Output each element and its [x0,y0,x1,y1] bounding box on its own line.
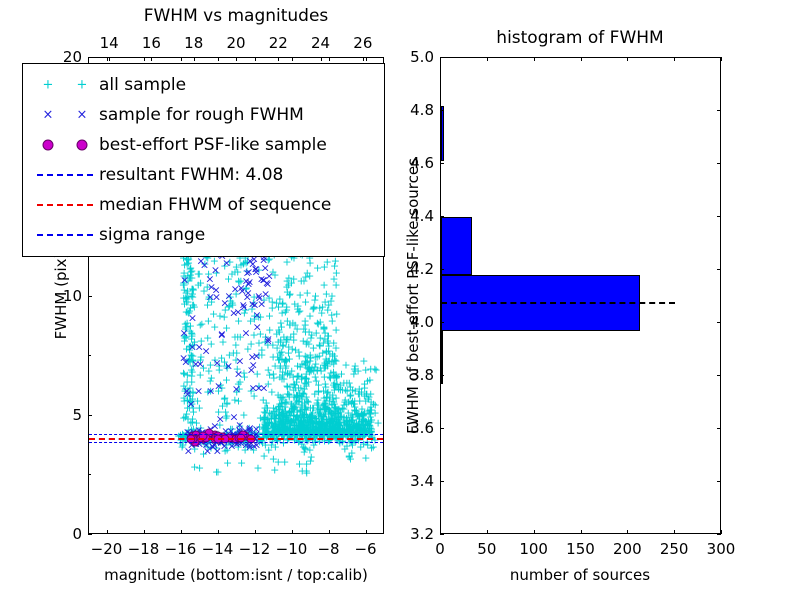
scatter-point-all: + [183,403,192,414]
scatter-point-all: + [260,412,269,423]
scatter-point-all: + [332,372,341,383]
scatter-point-all: + [217,382,226,393]
scatter-point-all: + [331,356,340,367]
scatter-point-rough: × [221,426,230,437]
scatter-point-all: + [308,422,317,433]
scatter-point-rough: × [242,275,251,286]
scatter-point-all: + [335,416,344,427]
scatter-point-all: + [331,369,340,380]
scatter-point-all: + [215,360,224,371]
scatter-point-all: + [289,413,298,424]
scatter-point-all: + [327,417,336,428]
scatter-point-all: + [331,410,340,421]
scatter-point-all: + [254,337,263,348]
scatter-point-all: + [288,403,297,414]
scatter-point-all: + [277,354,286,365]
scatter-point-all: + [319,426,328,437]
scatter-top-xtick [151,57,152,61]
scatter-point-all: + [282,411,291,422]
scatter-point-all: + [269,410,278,421]
scatter-point-all: + [328,390,337,401]
scatter-point-all: + [304,377,313,388]
scatter-point-all: + [206,360,215,371]
scatter-point-all: + [269,426,278,437]
scatter-point-all: + [233,364,242,375]
scatter-point-all: + [239,259,248,270]
scatter-point-all: + [282,356,291,367]
scatter-point-all: + [346,421,355,432]
scatter-point-all: + [344,407,353,418]
scatter-point-all: + [218,336,227,347]
scatter-point-all: + [347,415,356,426]
scatter-point-all: + [366,416,375,427]
scatter-point-all: + [197,336,206,347]
scatter-point-all: + [187,350,196,361]
scatter-point-all: + [322,427,331,438]
scatter-point-all: + [179,413,188,424]
scatter-point-all: + [294,383,303,394]
scatter-point-rough: × [224,360,233,371]
scatter-point-all: + [181,322,190,333]
scatter-point-all: + [317,365,326,376]
scatter-point-all: + [354,422,363,433]
scatter-point-all: + [275,355,284,366]
histogram-ytick-right [717,110,721,111]
scatter-point-all: + [325,348,334,359]
scatter-point-all: + [285,288,294,299]
scatter-point-all: + [220,393,229,404]
scatter-point-all: + [282,380,291,391]
scatter-point-all: + [185,402,194,413]
histogram-ytick [440,428,444,429]
scatter-point-all: + [302,380,311,391]
scatter-point-all: + [293,300,302,311]
histogram-xtick-label: 50 [477,540,496,558]
scatter-point-all: + [352,421,361,432]
scatter-point-all: + [332,419,341,430]
scatter-point-all: + [285,290,294,301]
scatter-point-all: + [294,397,303,408]
scatter-point-all: + [333,408,342,419]
scatter-point-all: + [276,427,285,438]
scatter-point-all: + [334,404,343,415]
scatter-point-all: + [274,415,283,426]
scatter-point-rough: × [217,329,226,340]
scatter-point-all: + [336,413,345,424]
figure-canvas: ++++++++++++++++++++++++++++++++++++++++… [0,0,800,600]
scatter-point-rough: × [249,359,258,370]
scatter-point-all: + [313,364,322,375]
scatter-point-all: + [284,279,293,290]
scatter-point-all: + [223,458,232,469]
scatter-point-all: + [308,411,317,422]
scatter-point-rough: × [179,328,188,339]
plus-icon: + [43,79,54,92]
scatter-point-all: + [234,315,243,326]
scatter-top-xtick-label: 20 [226,34,245,52]
scatter-point-all: + [306,412,315,423]
scatter-point-all: + [285,320,294,331]
scatter-point-all: + [359,427,368,438]
scatter-point-all: + [234,442,243,453]
scatter-point-all: + [231,340,240,351]
scatter-point-all: + [329,338,338,349]
scatter-point-all: + [199,286,208,297]
scatter-point-all: + [274,426,283,437]
scatter-point-all: + [182,376,191,387]
scatter-point-all: + [263,426,272,437]
scatter-point-all: + [351,385,360,396]
scatter-point-all: + [183,292,192,303]
scatter-point-rough: × [241,425,250,436]
scatter-point-all: + [180,336,189,347]
scatter-point-all: + [224,302,233,313]
scatter-point-rough: × [251,263,260,274]
scatter-point-all: + [301,327,310,338]
scatter-point-all: + [350,417,359,428]
scatter-point-all: + [342,412,351,423]
legend-label: best-effort PSF-like sample [99,135,327,155]
legend-marker: ×× [31,100,99,130]
scatter-point-all: + [300,410,309,421]
scatter-point-all: + [331,401,340,412]
scatter-point-all: + [183,385,192,396]
scatter-point-all: + [332,308,341,319]
scatter-point-all: + [187,266,196,277]
scatter-point-all: + [289,335,298,346]
scatter-point-all: + [351,421,360,432]
scatter-point-all: + [207,296,216,307]
scatter-point-all: + [325,427,334,438]
scatter-point-all: + [306,352,315,363]
scatter-xtick [181,530,182,534]
scatter-point-all: + [339,412,348,423]
scatter-point-all: + [277,398,286,409]
scatter-point-all: + [301,427,310,438]
scatter-point-all: + [334,420,343,431]
histogram-xtick-label: 100 [519,540,548,558]
scatter-point-all: + [182,409,191,420]
scatter-point-all: + [185,355,194,366]
scatter-point-all: + [294,415,303,426]
scatter-point-all: + [291,401,300,412]
scatter-point-rough: × [245,423,254,434]
histogram-ytick-right [717,534,721,535]
scatter-point-all: + [334,405,343,416]
scatter-point-all: + [288,317,297,328]
scatter-point-all: + [243,344,252,355]
scatter-point-all: + [357,403,366,414]
scatter-point-all: + [339,426,348,437]
scatter-point-all: + [335,426,344,437]
scatter-point-all: + [272,297,281,308]
scatter-point-all: + [259,394,268,405]
scatter-point-all: + [185,390,194,401]
scatter-point-all: + [270,269,279,280]
scatter-point-rough: × [213,445,222,456]
scatter-point-rough: × [259,274,268,285]
scatter-point-all: + [247,385,256,396]
scatter-xtick-label: −6 [354,540,376,558]
scatter-point-all: + [262,421,271,432]
scatter-point-all: + [249,298,258,309]
scatter-point-all: + [180,396,189,407]
scatter-point-all: + [284,272,293,283]
scatter-point-all: + [265,293,274,304]
scatter-point-all: + [315,403,324,414]
scatter-point-rough: × [211,265,220,276]
scatter-point-all: + [323,361,332,372]
scatter-point-all: + [276,416,285,427]
scatter-point-all: + [341,423,350,434]
scatter-point-all: + [303,415,312,426]
scatter-point-rough: × [217,329,226,340]
scatter-point-all: + [332,426,341,437]
scatter-point-all: + [330,422,339,433]
scatter-point-all: + [301,378,310,389]
scatter-point-all: + [264,364,273,375]
scatter-point-all: + [291,414,300,425]
scatter-point-all: + [222,361,231,372]
scatter-point-all: + [349,419,358,430]
scatter-point-all: + [274,355,283,366]
scatter-point-all: + [323,257,332,268]
scatter-point-all: + [348,396,357,407]
scatter-point-all: + [186,391,195,402]
scatter-point-all: + [328,412,337,423]
scatter-point-all: + [280,422,289,433]
histogram-xtick-top [581,57,582,61]
scatter-point-all: + [354,407,363,418]
scatter-point-all: + [254,311,263,322]
scatter-point-all: + [350,399,359,410]
scatter-point-all: + [231,354,240,365]
scatter-point-all: + [189,402,198,413]
scatter-point-all: + [316,426,325,437]
scatter-point-all: + [305,417,314,428]
scatter-point-all: + [289,417,298,428]
scatter-point-all: + [292,411,301,422]
scatter-point-rough: × [189,426,198,437]
scatter-point-all: + [297,275,306,286]
scatter-point-all: + [346,381,355,392]
scatter-point-all: + [212,443,221,454]
scatter-point-all: + [295,413,304,424]
scatter-point-all: + [232,386,241,397]
scatter-point-all: + [279,339,288,350]
scatter-point-all: + [241,304,250,315]
scatter-point-all: + [283,421,292,432]
scatter-xtick-label: −14 [202,540,234,558]
scatter-point-all: + [276,400,285,411]
scatter-point-rough: × [245,277,254,288]
scatter-point-rough: × [182,386,191,397]
scatter-point-all: + [306,350,315,361]
scatter-point-all: + [287,405,296,416]
scatter-point-rough: × [248,352,257,363]
scatter-point-all: + [367,442,376,453]
scatter-point-all: + [300,419,309,430]
scatter-point-all: + [311,291,320,302]
scatter-point-all: + [301,271,310,282]
scatter-point-rough: × [188,341,197,352]
scatter-point-all: + [290,402,299,413]
scatter-point-all: + [280,402,289,413]
scatter-point-rough: × [212,285,221,296]
scatter-point-all: + [259,295,268,306]
scatter-point-all: + [332,422,341,433]
scatter-point-all: + [274,401,283,412]
scatter-point-all: + [292,427,301,438]
scatter-point-rough: × [203,445,212,456]
scatter-point-all: + [312,376,321,387]
scatter-point-all: + [277,395,286,406]
scatter-point-all: + [183,394,192,405]
scatter-point-all: + [319,400,328,411]
scatter-point-all: + [362,426,371,437]
scatter-point-all: + [188,284,197,295]
scatter-point-rough: × [250,300,259,311]
scatter-point-all: + [297,416,306,427]
scatter-point-all: + [355,414,364,425]
scatter-point-all: + [329,367,338,378]
scatter-point-all: + [289,409,298,420]
scatter-point-all: + [188,299,197,310]
histogram-ytick-label: 3.4 [398,472,434,490]
scatter-point-all: + [323,336,332,347]
scatter-point-all: + [281,417,290,428]
legend-item: resultant FWHM: 4.08 [31,160,374,190]
scatter-point-all: + [294,417,303,428]
scatter-top-xtick-label: 18 [184,34,203,52]
scatter-xtick [292,530,293,534]
scatter-point-all: + [300,315,309,326]
scatter-point-all: + [289,385,298,396]
scatter-point-all: + [185,341,194,352]
histogram-ytick-label: 4.8 [398,101,434,119]
scatter-point-all: + [302,459,311,470]
scatter-xtick [218,530,219,534]
scatter-point-all: + [320,323,329,334]
legend-marker [31,190,99,220]
legend-label: sample for rough FWHM [99,105,304,125]
scatter-point-all: + [285,370,294,381]
scatter-point-all: + [285,319,294,330]
histogram-title: histogram of FWHM [496,28,663,48]
scatter-point-all: + [364,426,373,437]
scatter-point-all: + [297,394,306,405]
scatter-point-all: + [304,426,313,437]
scatter-point-all: + [303,267,312,278]
scatter-point-all: + [365,426,374,437]
scatter-point-all: + [311,422,320,433]
scatter-point-all: + [276,335,285,346]
scatter-point-all: + [315,426,324,437]
scatter-point-all: + [267,419,276,430]
scatter-point-all: + [239,258,248,269]
scatter-point-all: + [183,285,192,296]
scatter-point-all: + [323,305,332,316]
scatter-point-all: + [332,380,341,391]
scatter-point-all: + [284,341,293,352]
scatter-point-all: + [187,334,196,345]
scatter-point-all: + [265,369,274,380]
scatter-point-all: + [303,420,312,431]
scatter-point-all: + [323,426,332,437]
scatter-point-all: + [182,306,191,317]
scatter-point-all: + [307,427,316,438]
scatter-point-all: + [305,365,314,376]
scatter-point-all: + [276,337,285,348]
scatter-point-rough: × [191,359,200,370]
scatter-point-all: + [270,410,279,421]
scatter-point-all: + [182,293,191,304]
scatter-point-all: + [293,370,302,381]
scatter-point-all: + [279,409,288,420]
scatter-point-all: + [308,403,317,414]
histogram-ytick [440,110,444,111]
scatter-point-all: + [321,360,330,371]
scatter-point-all: + [267,414,276,425]
scatter-point-all: + [319,385,328,396]
scatter-point-all: + [242,265,251,276]
scatter-point-all: + [361,419,370,430]
scatter-point-all: + [323,402,332,413]
scatter-point-all: + [293,360,302,371]
scatter-point-all: + [296,382,305,393]
scatter-point-all: + [345,377,354,388]
scatter-point-all: + [293,371,302,382]
scatter-point-rough: × [231,283,240,294]
scatter-point-all: + [271,442,280,453]
scatter-point-all: + [295,427,304,438]
scatter-point-all: + [324,409,333,420]
scatter-point-all: + [309,302,318,313]
scatter-point-all: + [338,402,347,413]
scatter-point-all: + [312,421,321,432]
scatter-point-all: + [324,346,333,357]
legend-marker [31,220,99,250]
scatter-point-all: + [301,417,310,428]
scatter-point-all: + [220,311,229,322]
scatter-point-all: + [304,419,313,430]
scatter-point-all: + [302,414,311,425]
scatter-point-all: + [326,417,335,428]
scatter-point-all: + [293,304,302,315]
scatter-point-all: + [345,415,354,426]
scatter-point-all: + [190,443,199,454]
cross-icon: × [77,109,88,122]
scatter-point-all: + [275,371,284,382]
scatter-point-all: + [326,413,335,424]
scatter-point-all: + [274,420,283,431]
scatter-point-all: + [275,412,284,423]
scatter-point-all: + [299,418,308,429]
scatter-point-all: + [332,378,341,389]
scatter-point-rough: × [254,382,263,393]
scatter-point-all: + [310,419,319,430]
scatter-point-all: + [259,412,268,423]
scatter-point-all: + [353,422,362,433]
scatter-point-all: + [320,407,329,418]
scatter-point-rough: × [261,262,270,273]
scatter-point-all: + [300,403,309,414]
scatter-point-all: + [349,368,358,379]
scatter-point-all: + [338,427,347,438]
scatter-point-all: + [179,270,188,281]
scatter-point-all: + [289,411,298,422]
scatter-point-all: + [310,413,319,424]
